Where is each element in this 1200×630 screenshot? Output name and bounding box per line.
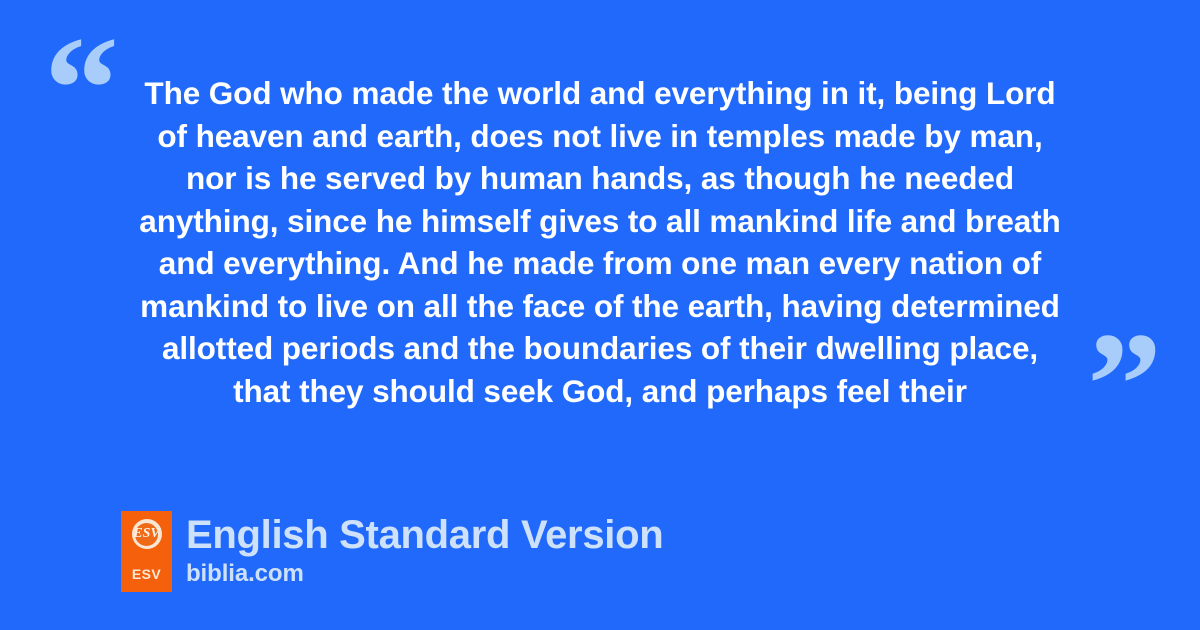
attribution-footer: ESV ESV English Standard Version biblia.… [121,511,663,592]
quote-text-block: The God who made the world and everythin… [110,72,1090,412]
site-url-label: biblia.com [186,560,663,588]
opening-quote-icon: “ [44,14,119,164]
quote-line: of heaven and earth, does not live in te… [110,115,1090,158]
quote-line: nor is he served by human hands, as thou… [110,157,1090,200]
closing-quote-icon: ” [1087,310,1162,460]
quote-card: “ The God who made the world and everyth… [0,0,1200,630]
esv-seal-monogram: ESV [133,527,159,541]
quote-line: mankind to live on all the face of the e… [110,285,1090,328]
esv-logo-badge: ESV ESV [121,511,172,592]
quote-line: anything, since he himself gives to all … [110,200,1090,243]
quote-line: The God who made the world and everythin… [110,72,1090,115]
quote-line: that they should seek God, and perhaps f… [110,370,1090,413]
quote-line: allotted periods and the boundaries of t… [110,327,1090,370]
quote-line: and everything. And he made from one man… [110,242,1090,285]
bible-version-name: English Standard Version [186,512,663,558]
esv-seal-icon: ESV [132,519,162,549]
esv-badge-label: ESV [132,566,161,582]
attribution-text: English Standard Version biblia.com [186,511,663,588]
